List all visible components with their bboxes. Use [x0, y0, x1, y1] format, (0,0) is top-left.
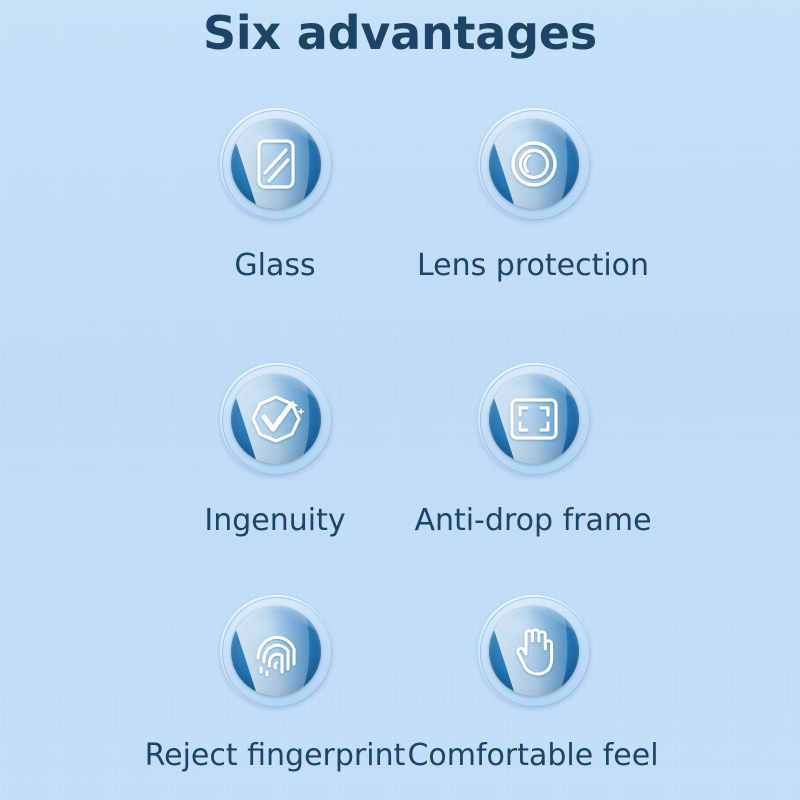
camera-lens-icon [489, 119, 579, 209]
features-grid: Glass Lens protection [0, 108, 800, 798]
feature-label: Comfortable feel [333, 738, 733, 773]
advantages-infographic: Six advantages Glass [0, 0, 800, 800]
feature-item-comfortable-feel[interactable]: Comfortable feel [333, 595, 733, 800]
feature-badge [478, 595, 590, 707]
feature-label: Anti-drop frame [333, 503, 733, 538]
glass-screen-icon [231, 119, 321, 209]
feature-badge [220, 363, 332, 475]
corner-frame-icon [489, 374, 579, 464]
feature-item-lens-protection[interactable]: Lens protection [333, 108, 733, 338]
feature-badge [478, 108, 590, 220]
feature-badge [220, 595, 332, 707]
page-title: Six advantages [0, 6, 800, 60]
feature-badge [478, 363, 590, 475]
diamond-check-icon [231, 374, 321, 464]
feature-item-anti-drop-frame[interactable]: Anti-drop frame [333, 363, 733, 593]
feature-label: Lens protection [333, 248, 733, 283]
fingerprint-icon [231, 606, 321, 696]
feature-badge [220, 108, 332, 220]
hand-palm-icon [489, 606, 579, 696]
